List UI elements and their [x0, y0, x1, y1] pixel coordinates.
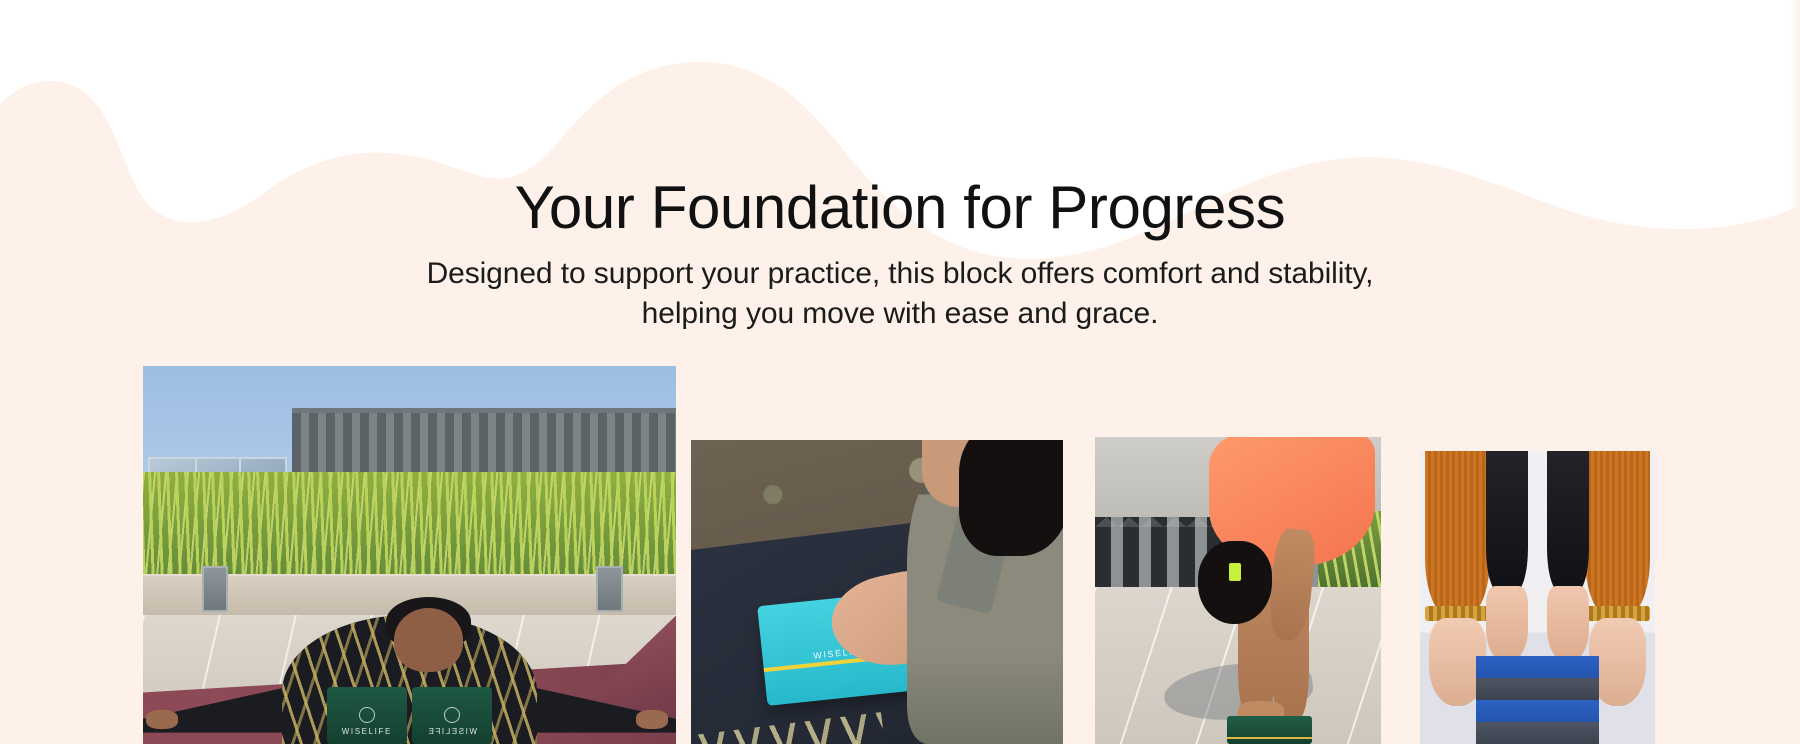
green-yoga-block	[1227, 716, 1313, 744]
block-stripe	[1227, 737, 1313, 739]
left-sleeve	[1425, 451, 1491, 615]
block-brand-label: WISELIFE	[412, 727, 492, 736]
hair	[959, 440, 1063, 556]
block-layer-1	[1476, 656, 1598, 678]
subtitle-line-1: Designed to support your practice, this …	[370, 254, 1430, 295]
yoga-block-right: WISELIFE	[412, 687, 492, 744]
subtitle-line-2: helping you move with ease and grace.	[370, 294, 1430, 335]
left-foot	[146, 710, 178, 729]
wiselife-logo-icon	[359, 707, 375, 723]
gallery-image-4[interactable]	[1420, 451, 1655, 744]
stacked-yoga-blocks	[1476, 656, 1598, 744]
block-layer-2	[1476, 678, 1598, 700]
right-legging	[1547, 451, 1589, 592]
left-foot	[1486, 586, 1528, 662]
left-legging	[1486, 451, 1528, 592]
product-feature-section: Your Foundation for Progress Designed to…	[0, 0, 1800, 744]
mat-pattern	[691, 713, 888, 744]
block-brand-label: WISELIFE	[327, 727, 407, 736]
gallery-image-2-scene: WISELIFE	[691, 440, 1063, 744]
right-sleeve	[1585, 451, 1651, 615]
hair-clip	[1229, 563, 1240, 581]
gallery-image-2[interactable]: WISELIFE	[691, 440, 1063, 744]
gallery-image-3-scene	[1095, 437, 1381, 744]
lantern-right	[596, 566, 623, 611]
yoga-block-left: WISELIFE	[327, 687, 407, 744]
right-foot	[636, 710, 668, 729]
gallery-image-3[interactable]	[1095, 437, 1381, 744]
page-subtitle: Designed to support your practice, this …	[370, 254, 1430, 335]
block-layer-4	[1476, 722, 1598, 744]
lantern-left	[202, 566, 229, 611]
block-layer-3	[1476, 700, 1598, 722]
gallery-image-4-scene	[1420, 451, 1655, 744]
page-title: Your Foundation for Progress	[0, 176, 1800, 240]
right-foot	[1547, 586, 1589, 662]
gallery-image-1-scene: WISELIFE WISELIFE	[143, 366, 676, 744]
gallery-image-1[interactable]: WISELIFE WISELIFE	[143, 366, 676, 744]
wiselife-logo-icon	[444, 707, 460, 723]
face	[394, 608, 463, 672]
hero-copy: Your Foundation for Progress Designed to…	[0, 0, 1800, 335]
